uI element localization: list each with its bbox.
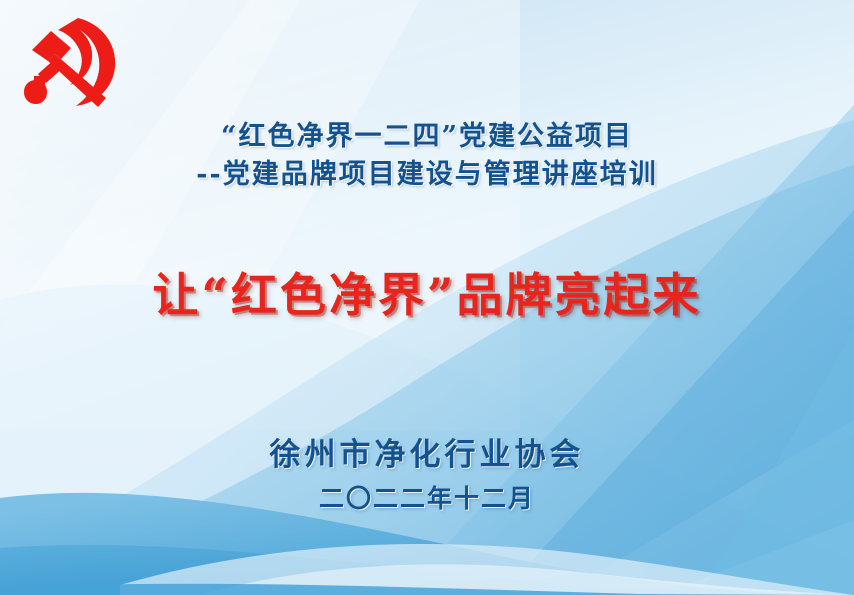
subtitle-line-1: “红色净界一二四”党建公益项目 <box>0 118 854 156</box>
party-emblem <box>18 14 122 114</box>
hammer-sickle-icon <box>18 14 122 114</box>
organization-name: 徐州市净化行业协会 <box>0 432 854 478</box>
footer-block: 徐州市净化行业协会 二〇二二年十二月 <box>0 432 854 520</box>
presentation-date: 二〇二二年十二月 <box>0 478 854 520</box>
subtitle-line-2: --党建品牌项目建设与管理讲座培训 <box>0 156 854 194</box>
title-slide: “红色净界一二四”党建公益项目 --党建品牌项目建设与管理讲座培训 让“红色净界… <box>0 0 854 595</box>
main-headline: 让“红色净界”品牌亮起来 <box>0 266 854 324</box>
headline-block: 让“红色净界”品牌亮起来 <box>0 266 854 324</box>
subtitle-block: “红色净界一二四”党建公益项目 --党建品牌项目建设与管理讲座培训 <box>0 118 854 194</box>
